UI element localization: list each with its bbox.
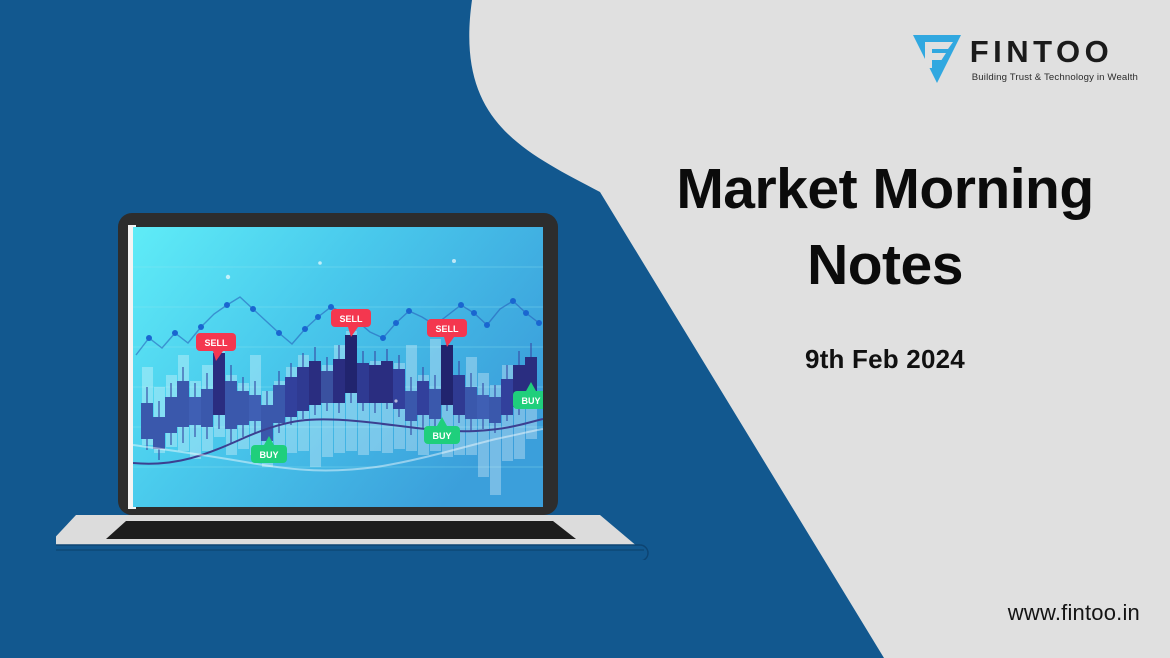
publication-date: 9th Feb 2024 [620,344,1150,375]
svg-text:BUY: BUY [259,450,278,460]
page-title: Market Morning Notes [620,152,1150,304]
page-title-line-2: Notes [620,228,1150,304]
fintoo-triangle-f-logo-icon [913,33,961,85]
laptop-illustration: SELL SELL SELL BUY [56,205,656,560]
svg-text:SELL: SELL [435,324,459,334]
brand-tagline: Building Trust & Technology in Wealth [972,72,1138,83]
brand-wordmark: FINTOO [970,36,1114,67]
brand-logo-text: FINTOO Building Trust & Technology in We… [970,36,1138,83]
svg-text:BUY: BUY [432,431,451,441]
content-column: FINTOO Building Trust & Technology in We… [620,0,1170,658]
svg-text:SELL: SELL [204,338,228,348]
poster-canvas: SELL SELL SELL BUY [0,0,1170,658]
laptop-keyboard-strip [106,521,576,539]
website-url: www.fintoo.in [1008,600,1140,626]
svg-text:SELL: SELL [339,314,363,324]
svg-text:BUY: BUY [521,396,540,406]
laptop-front-edge [56,545,648,560]
page-title-line-1: Market Morning [620,152,1150,228]
brand-logo: FINTOO Building Trust & Technology in We… [913,30,1138,85]
